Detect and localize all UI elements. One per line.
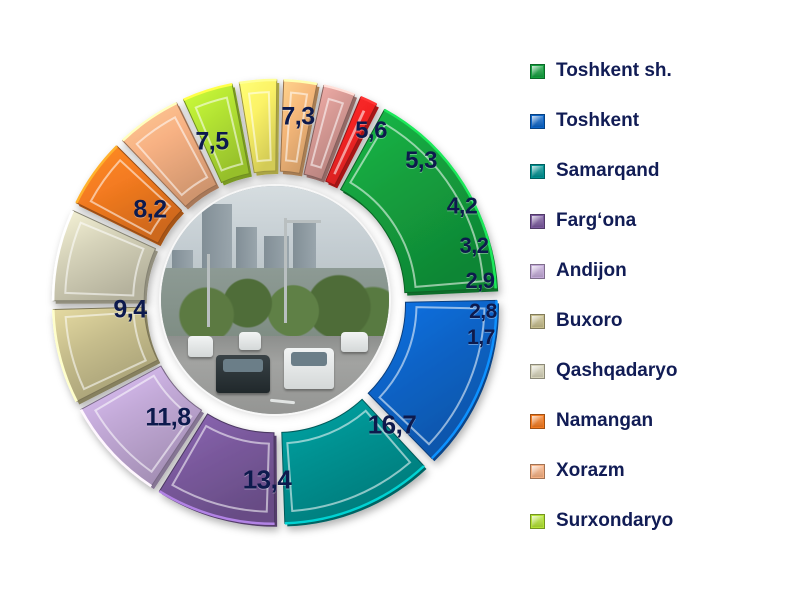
photo-pole-2 (207, 254, 210, 327)
legend-item-toshkent[interactable]: Toshkent (530, 96, 792, 146)
photo-lamp-arm (284, 220, 320, 223)
legend[interactable]: Toshkent sh.ToshkentSamarqandFarg‘onaAnd… (530, 46, 792, 546)
legend-item-label: Toshkent (556, 111, 639, 131)
legend-swatch-icon (530, 64, 545, 79)
donut-chart[interactable]: 16,713,411,89,48,27,57,35,65,34,23,22,92… (40, 20, 510, 580)
legend-item-buxoro[interactable]: Buxoro (530, 296, 792, 346)
legend-swatch-icon (530, 214, 545, 229)
legend-swatch-icon (530, 164, 545, 179)
photo-car-dark (216, 355, 271, 394)
legend-item-farg-ona[interactable]: Farg‘ona (530, 196, 792, 246)
legend-item-label: Andijon (556, 261, 627, 281)
legend-item-label: Surxondaryo (556, 511, 673, 531)
photo-car-far-1 (188, 336, 213, 357)
chart-screenshot: 16,713,411,89,48,27,57,35,65,34,23,22,92… (0, 0, 800, 600)
legend-item-surxondaryo[interactable]: Surxondaryo (530, 496, 792, 546)
photo-car-white (284, 348, 334, 389)
legend-item-samarqand[interactable]: Samarqand (530, 146, 792, 196)
legend-item-qashqadaryo[interactable]: Qashqadaryo (530, 346, 792, 396)
legend-item-label: Toshkent sh. (556, 61, 672, 81)
legend-item-label: Qashqadaryo (556, 361, 677, 381)
photo-lamp-post (284, 218, 287, 323)
legend-swatch-icon (530, 464, 545, 479)
legend-item-andijon[interactable]: Andijon (530, 246, 792, 296)
legend-item-label: Farg‘ona (556, 211, 636, 231)
legend-item-toshkent-sh[interactable]: Toshkent sh. (530, 46, 792, 96)
legend-swatch-icon (530, 314, 545, 329)
legend-item-namangan[interactable]: Namangan (530, 396, 792, 446)
legend-swatch-icon (530, 364, 545, 379)
legend-swatch-icon (530, 114, 545, 129)
legend-item-label: Samarqand (556, 161, 659, 181)
legend-swatch-icon (530, 264, 545, 279)
legend-swatch-icon (530, 514, 545, 529)
photo-car-far-2 (341, 332, 368, 353)
legend-item-label: Namangan (556, 411, 653, 431)
center-photo-city-street (161, 186, 389, 414)
legend-item-label: Buxoro (556, 311, 623, 331)
legend-item-label: Xorazm (556, 461, 625, 481)
legend-item-xorazm[interactable]: Xorazm (530, 446, 792, 496)
legend-swatch-icon (530, 414, 545, 429)
photo-car-far-3 (239, 332, 262, 350)
